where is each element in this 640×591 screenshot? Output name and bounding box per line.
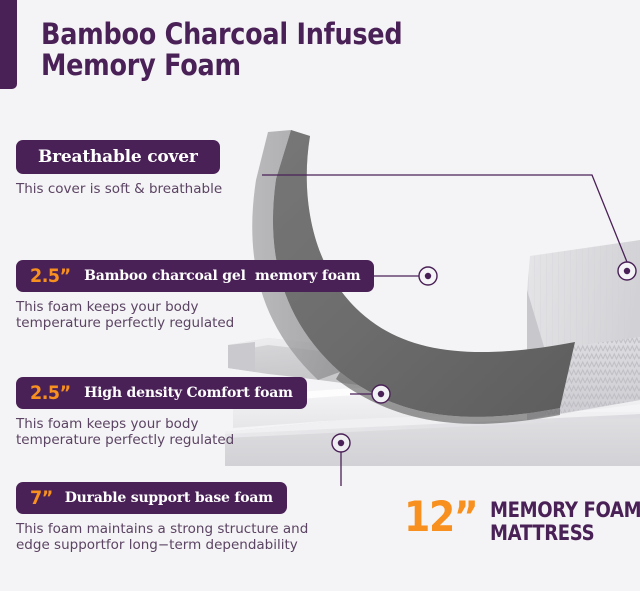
callout-comfort: 2.5” High density Comfort foam This foam… bbox=[16, 377, 307, 448]
callout-base-measure: 7” bbox=[30, 487, 53, 509]
callout-cover-description: This cover is soft & breathable bbox=[16, 181, 222, 197]
marker-base bbox=[332, 434, 350, 452]
callout-cover: Breathable cover This cover is soft & br… bbox=[16, 140, 222, 197]
callout-comfort-description: This foam keeps your body temperature pe… bbox=[16, 416, 307, 448]
callout-gel: 2.5” Bamboo charcoal gel memory foam Thi… bbox=[16, 260, 374, 331]
callout-cover-label: Breathable cover bbox=[38, 147, 198, 167]
total-thickness-block: 12” MEMORY FOAM MATTRESS bbox=[404, 498, 640, 545]
marker-gel bbox=[419, 267, 437, 285]
callout-gel-description: This foam keeps your body temperature pe… bbox=[16, 299, 374, 331]
marker-comfort bbox=[372, 385, 390, 403]
product-type-label: MEMORY FOAM MATTRESS bbox=[490, 498, 640, 545]
callout-cover-pill[interactable]: Breathable cover bbox=[16, 140, 220, 174]
callout-base: 7” Durable support base foam This foam m… bbox=[16, 482, 308, 553]
product-type-line1: MEMORY FOAM bbox=[490, 499, 640, 522]
marker-cover bbox=[618, 262, 636, 280]
callout-comfort-pill[interactable]: 2.5” High density Comfort foam bbox=[16, 377, 307, 409]
callout-gel-label: Bamboo charcoal gel memory foam bbox=[84, 268, 360, 284]
callout-gel-pill[interactable]: 2.5” Bamboo charcoal gel memory foam bbox=[16, 260, 374, 292]
callout-comfort-label: High density Comfort foam bbox=[84, 385, 293, 401]
callout-base-label: Durable support base foam bbox=[65, 490, 273, 506]
product-type-line2: MATTRESS bbox=[490, 522, 640, 545]
infographic-page: Bamboo Charcoal Infused Memory Foam bbox=[0, 0, 640, 591]
callout-base-description: This foam maintains a strong structure a… bbox=[16, 521, 308, 553]
callout-gel-measure: 2.5” bbox=[30, 265, 71, 287]
callout-comfort-measure: 2.5” bbox=[30, 382, 71, 404]
callout-base-pill[interactable]: 7” Durable support base foam bbox=[16, 482, 287, 514]
total-thickness-measure: 12” bbox=[404, 498, 477, 536]
